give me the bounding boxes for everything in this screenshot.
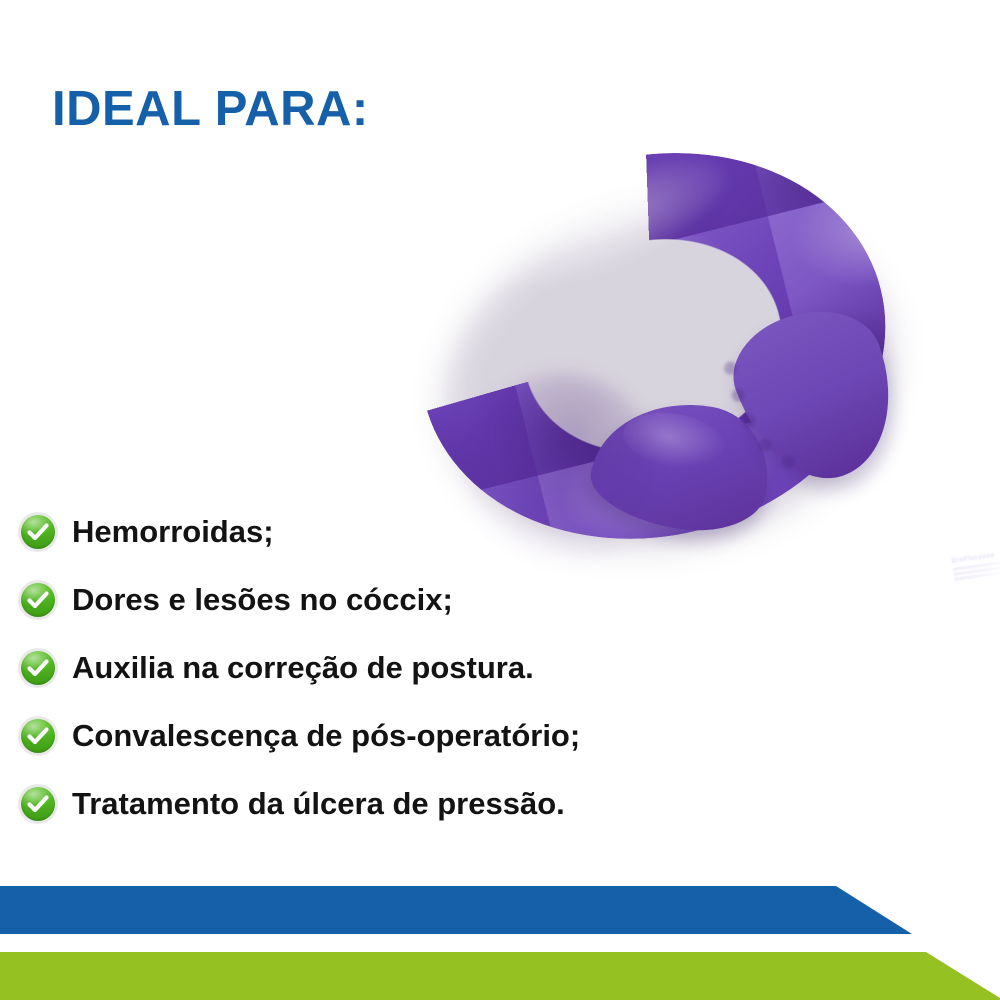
list-item: Hemorroidas;	[18, 498, 858, 566]
list-item: Dores e lesões no cóccix;	[18, 566, 858, 634]
page-title: IDEAL PARA:	[52, 84, 369, 135]
benefit-label: Convalescença de pós-operatório;	[72, 719, 580, 753]
product-spec-print	[953, 556, 1000, 581]
list-item: Auxilia na correção de postura.	[18, 634, 858, 702]
check-circle-icon	[18, 648, 58, 688]
check-circle-icon	[18, 580, 58, 620]
check-circle-icon	[18, 784, 58, 824]
benefit-label: Tratamento da úlcera de pressão.	[72, 787, 565, 821]
list-item: Tratamento da úlcera de pressão.	[18, 770, 858, 838]
print-line	[953, 565, 1000, 576]
print-line	[953, 558, 1000, 571]
benefit-label: Dores e lesões no cóccix;	[72, 583, 453, 617]
print-line	[954, 571, 1000, 581]
list-item: Convalescença de pós-operatório;	[18, 702, 858, 770]
footer-green-bar	[0, 952, 1000, 1000]
infographic-page: IDEAL PARA: BioFlorence	[0, 0, 1000, 1000]
product-brand-print: BioFlorence	[951, 546, 1000, 565]
footer-blue-bar	[0, 886, 1000, 934]
check-circle-icon	[18, 716, 58, 756]
benefit-label: Auxilia na correção de postura.	[72, 651, 534, 685]
benefit-label: Hemorroidas;	[72, 515, 274, 549]
check-circle-icon	[18, 512, 58, 552]
benefits-list: Hemorroidas; Dores e lesões no cóccix; A…	[18, 498, 858, 838]
product-printed-label: BioFlorence	[951, 546, 1000, 603]
